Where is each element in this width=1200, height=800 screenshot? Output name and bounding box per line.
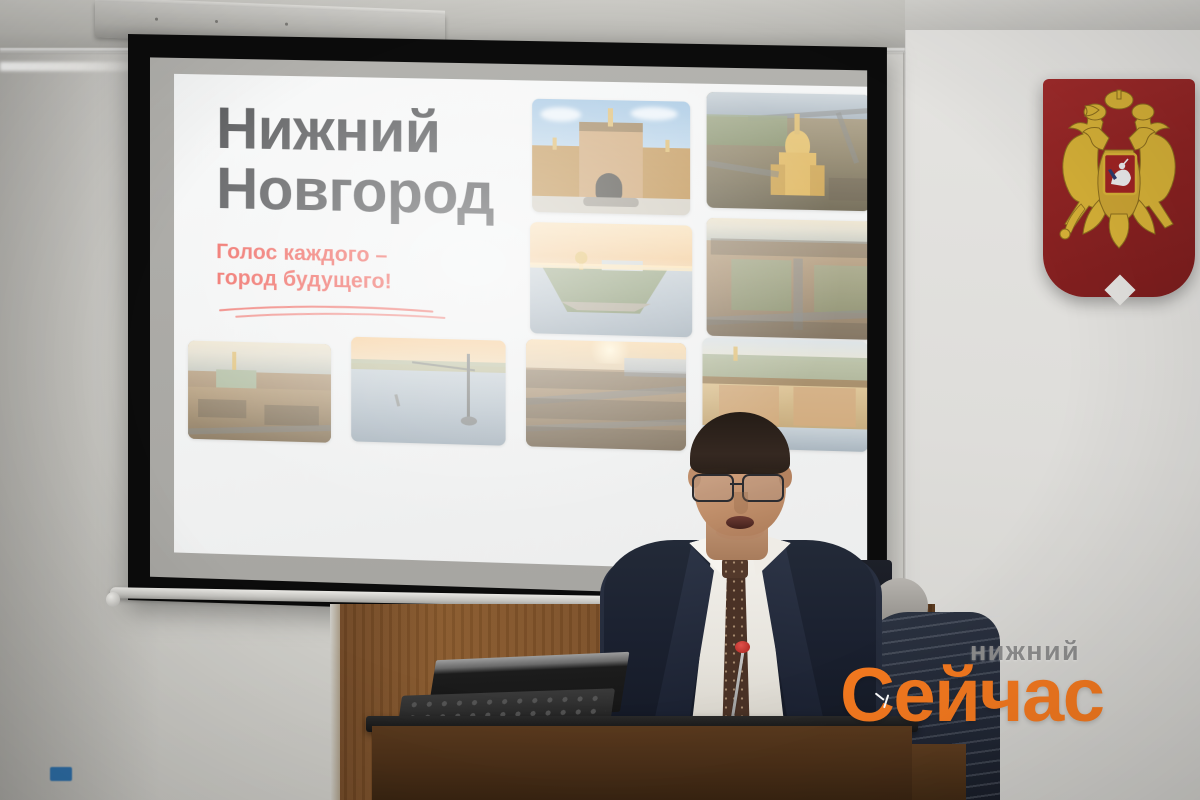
subtitle-underline (214, 299, 477, 326)
blue-marker-object (50, 767, 72, 781)
wood-panel-edge (330, 604, 340, 800)
photo-nevsky-cathedral (707, 92, 868, 211)
screen-pull-knob (106, 592, 120, 607)
slide-title-line2: Новгород (216, 159, 510, 226)
speaker-tie-knot (722, 558, 748, 578)
podium (372, 726, 912, 800)
photo-downtown-sunset (526, 339, 686, 451)
photo-strelka (530, 222, 692, 337)
ceiling-right (905, 0, 1200, 30)
slide-title-line1: Нижний (216, 99, 510, 166)
rail-screw (155, 18, 158, 21)
projection-screen: Нижний Новгород Голос каждого – город бу… (128, 34, 887, 625)
slide-title: Нижний Новгород (216, 99, 510, 227)
speaker-nose (734, 492, 748, 514)
slide-subtitle: Голос каждого – город будущего! (216, 239, 520, 299)
double-headed-eagle-icon (1043, 88, 1195, 278)
microphone-head (735, 641, 750, 653)
photo-river-cablecar (351, 337, 505, 446)
presentation-photo-scene: Нижний Новгород Голос каждого – город бу… (0, 0, 1200, 800)
photo-old-town (188, 341, 331, 443)
rail-screw (215, 20, 218, 23)
rail-screw (285, 23, 288, 26)
watermark: нижний Сейчас (840, 634, 1160, 746)
speaker-mouth (726, 516, 754, 529)
photo-city-aerial (707, 218, 868, 340)
clock-icon (868, 690, 902, 724)
photo-fair-building (532, 99, 690, 216)
